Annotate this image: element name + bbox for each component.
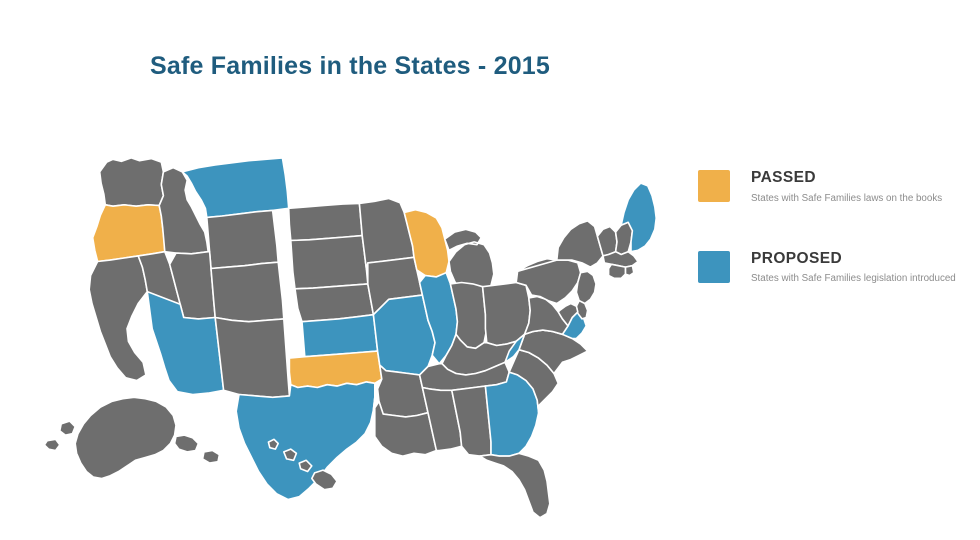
legend-description-passed: States with Safe Families laws on the bo… xyxy=(751,193,942,205)
state-CO[interactable] xyxy=(211,262,284,322)
legend-label-passed: PASSED xyxy=(751,169,942,187)
legend-description-proposed: States with Safe Families legislation in… xyxy=(751,273,956,285)
state-NM[interactable] xyxy=(215,318,289,398)
legend-text-passed: PASSED States with Safe Families laws on… xyxy=(751,168,942,205)
state-NJ[interactable] xyxy=(576,271,596,303)
us-map-svg xyxy=(8,105,680,530)
legend-item-proposed[interactable]: PROPOSED States with Safe Families legis… xyxy=(698,249,970,286)
state-WY[interactable] xyxy=(207,210,278,268)
state-FL[interactable] xyxy=(480,453,550,517)
state-ND[interactable] xyxy=(289,203,363,240)
legend: PASSED States with Safe Families laws on… xyxy=(698,168,970,329)
state-RI[interactable] xyxy=(625,266,633,276)
state-AK[interactable] xyxy=(44,397,219,478)
state-WA[interactable] xyxy=(100,158,164,206)
legend-swatch-passed xyxy=(698,170,730,202)
state-CT[interactable] xyxy=(609,264,626,278)
state-CA[interactable] xyxy=(89,256,147,381)
state-TX[interactable] xyxy=(236,382,375,500)
state-MA[interactable] xyxy=(603,252,638,267)
legend-label-proposed: PROPOSED xyxy=(751,250,956,268)
page-title: Safe Families in the States - 2015 xyxy=(0,52,700,81)
state-MT[interactable] xyxy=(182,158,288,218)
states-layer xyxy=(44,158,656,518)
legend-item-passed[interactable]: PASSED States with Safe Families laws on… xyxy=(698,168,970,205)
state-KS[interactable] xyxy=(302,315,378,357)
legend-text-proposed: PROPOSED States with Safe Families legis… xyxy=(751,249,956,286)
state-SD[interactable] xyxy=(291,236,368,289)
legend-swatch-proposed xyxy=(698,251,730,283)
us-choropleth-map xyxy=(8,105,680,530)
